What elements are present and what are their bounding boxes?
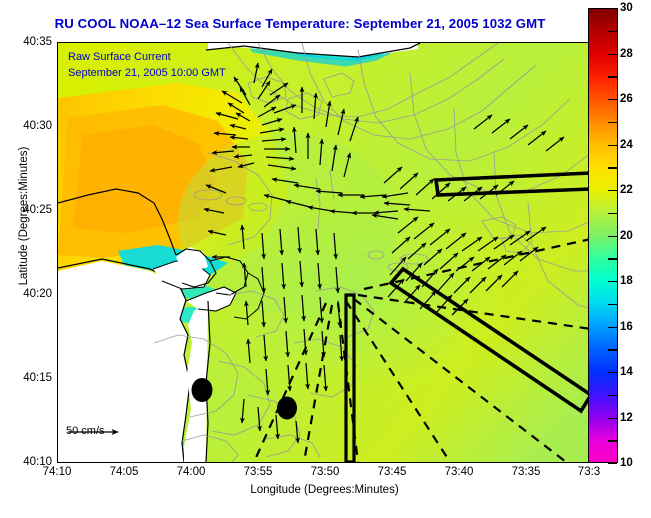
map-canvas: [58, 43, 591, 462]
colorbar-minor-tick: [608, 54, 617, 55]
colorbar-tick-20: 20: [620, 230, 633, 242]
colorbar-tick-16: 16: [620, 321, 633, 333]
map-plot-area[interactable]: Raw Surface Current September 21, 2005 1…: [57, 42, 592, 463]
y-tick-4: 40:15: [23, 372, 52, 384]
y-axis-title: Latitude (Degrees:Minutes): [18, 106, 30, 326]
x-tick-8: 73:3: [578, 466, 600, 478]
colorbar-minor-tick: [608, 440, 617, 441]
colorbar-minor-tick: [608, 167, 617, 168]
sst-map-figure: RU COOL NOAA–12 Sea Surface Temperature:…: [0, 0, 651, 518]
station-marker-east[interactable]: [277, 397, 297, 420]
x-tick-4: 73:50: [311, 466, 340, 478]
x-tick-2: 74:00: [177, 466, 206, 478]
colorbar-minor-tick: [608, 31, 617, 32]
colorbar-minor-tick: [608, 372, 617, 373]
colorbar-minor-tick: [608, 395, 617, 396]
vector-scale-legend: 50 cm/s: [66, 425, 105, 439]
colorbar-minor-tick: [608, 99, 617, 100]
colorbar-minor-tick: [608, 8, 617, 9]
x-tick-1: 74:05: [110, 466, 139, 478]
x-tick-5: 73:45: [378, 466, 407, 478]
colorbar-minor-tick: [608, 76, 617, 77]
colorbar-tick-30: 30: [620, 2, 633, 14]
arrow-right-icon: [66, 425, 128, 439]
y-tick-5: 40:10: [23, 456, 52, 468]
colorbar-minor-tick: [608, 122, 617, 123]
colorbar-minor-tick: [608, 258, 617, 259]
x-tick-6: 73:40: [445, 466, 474, 478]
colorbar-minor-tick: [608, 236, 617, 237]
colorbar-minor-tick: [608, 281, 617, 282]
x-axis-title: Longitude (Degrees:Minutes): [57, 484, 592, 496]
colorbar-tick-24: 24: [620, 139, 633, 151]
colorbar-minor-tick: [608, 327, 617, 328]
x-tick-3: 73:55: [244, 466, 273, 478]
colorbar-tick-10: 10: [620, 457, 633, 469]
colorbar-tick-28: 28: [620, 48, 633, 60]
colorbar-minor-tick: [608, 190, 617, 191]
figure-title: RU COOL NOAA–12 Sea Surface Temperature:…: [0, 16, 600, 31]
y-tick-0: 40:35: [23, 36, 52, 48]
colorbar-tick-14: 14: [620, 366, 633, 378]
annotation-line-2: September 21, 2005 10:00 GMT: [68, 65, 226, 81]
colorbar-tick-18: 18: [620, 275, 633, 287]
station-marker-west[interactable]: [192, 378, 213, 402]
colorbar-tick-26: 26: [620, 93, 633, 105]
annotation-line-1: Raw Surface Current: [68, 49, 226, 65]
colorbar-minor-tick: [608, 304, 617, 305]
colorbar-minor-tick: [608, 213, 617, 214]
colorbar-minor-tick: [608, 349, 617, 350]
colorbar-tick-12: 12: [620, 412, 633, 424]
x-tick-7: 73:35: [512, 466, 541, 478]
colorbar-tick-22: 22: [620, 184, 633, 196]
colorbar-minor-tick: [608, 145, 617, 146]
colorbar-minor-tick: [608, 418, 617, 419]
current-annotation: Raw Surface Current September 21, 2005 1…: [68, 49, 226, 81]
colorbar-minor-tick: [608, 463, 617, 464]
